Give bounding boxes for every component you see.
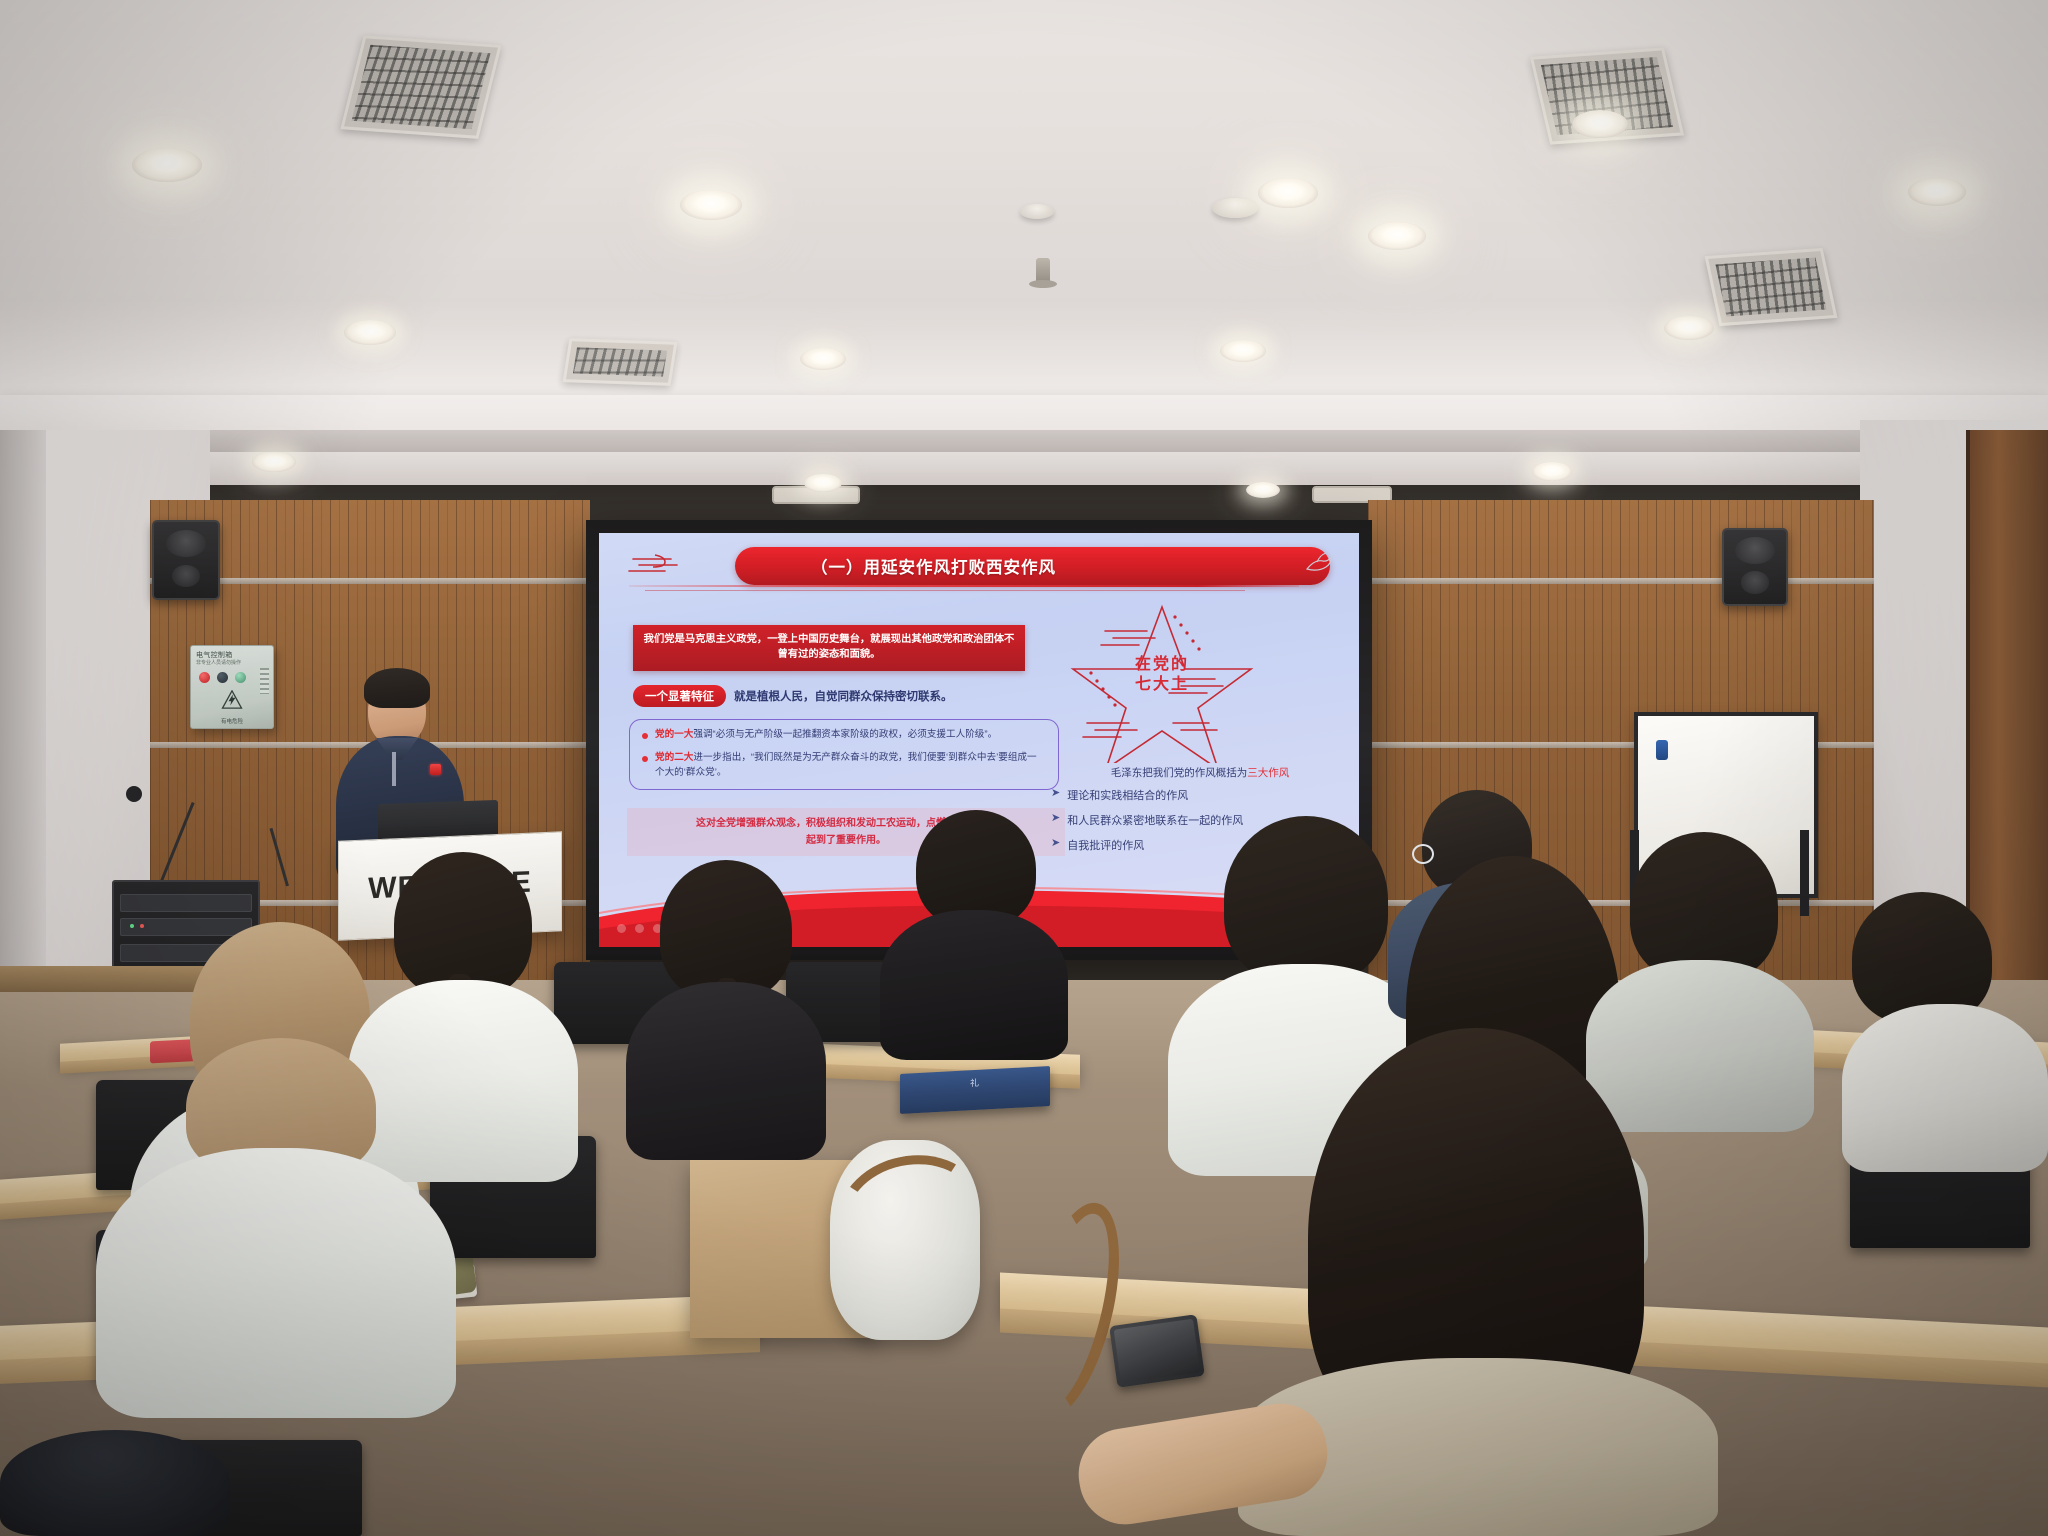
control-box-vents xyxy=(260,668,269,694)
star-label: 在党的 七大上 xyxy=(1069,655,1255,695)
smoke-detector xyxy=(1212,198,1258,218)
presenter-hair xyxy=(364,668,430,708)
wood-panel-seam xyxy=(1368,578,1874,584)
mao-line-highlight: 三大作风 xyxy=(1247,767,1289,779)
ceiling-downlight xyxy=(344,320,396,345)
ceiling-downlight xyxy=(800,348,846,370)
whiteboard-magnet[interactable] xyxy=(1656,740,1668,760)
electrical-control-box[interactable]: 电气控制箱 非专业人员请勿操作 有电危险 xyxy=(190,645,274,729)
hvac-vent-grille xyxy=(1705,248,1838,326)
slide-title-banner: （一）用延安作风打败西安作风 xyxy=(735,547,1355,587)
phone-screen[interactable] xyxy=(1114,1319,1201,1384)
ceiling-downlight xyxy=(252,452,296,472)
feature-pill: 一个显著特征 xyxy=(633,685,726,707)
slide-mao-line: 毛泽东把我们党的作风概括为三大作风 xyxy=(1045,765,1355,780)
slide-bullet-item: 党的一大强调“必须与无产阶级一起推翻资本家阶级的政权，必须支援工人阶级”。 xyxy=(642,728,1046,742)
bullet-highlight: 党的二大 xyxy=(655,752,693,763)
audience-torso xyxy=(1842,1004,2048,1172)
wall-speaker xyxy=(152,520,220,600)
ceiling-downlight xyxy=(1258,178,1318,208)
control-box-sublabel: 非专业人员请勿操作 xyxy=(196,659,241,666)
audience-torso xyxy=(880,910,1068,1060)
classroom-scene: 电气控制箱 非专业人员请勿操作 有电危险 （一）用延安作风打败西安作风 xyxy=(0,0,2048,1536)
indicator-lamp-red xyxy=(199,672,210,683)
feature-text: 就是植根人民，自觉同群众保持密切联系。 xyxy=(734,688,953,704)
slide-title-underline xyxy=(645,590,1245,591)
audience-member-foreground xyxy=(1238,1028,1718,1536)
slide-title-text: （一）用延安作风打败西安作风 xyxy=(811,554,1056,578)
slide-decoration-icon xyxy=(625,551,735,585)
hvac-vent-grille xyxy=(563,338,678,386)
slide-star-graphic: 在党的 七大上 xyxy=(1069,595,1255,763)
audience-member-foreground xyxy=(96,1038,456,1418)
slide-title-underline xyxy=(629,585,1299,587)
left-wall-corner xyxy=(0,430,46,990)
chevron-right-icon: ➤ xyxy=(1051,788,1060,799)
ceiling-downlight xyxy=(1246,482,1280,498)
star-label-line-2: 七大上 xyxy=(1069,675,1255,695)
smoke-detector xyxy=(1020,204,1054,219)
audience-member xyxy=(880,810,1068,1060)
ceiling-downlight xyxy=(680,190,742,220)
ppt-pen-icon[interactable] xyxy=(617,924,626,933)
black-cap[interactable] xyxy=(0,1430,230,1536)
microphone-head-icon xyxy=(126,786,142,802)
ceiling-downlight xyxy=(1908,178,1966,206)
ceiling-downlight xyxy=(1572,110,1628,138)
fire-sprinkler xyxy=(1036,258,1050,284)
ceiling-downlight xyxy=(1368,222,1426,250)
audience-hair xyxy=(1224,816,1388,984)
mao-line-prefix: 毛泽东把我们党的作风概括为 xyxy=(1111,767,1248,779)
ceiling-downlight xyxy=(804,474,842,492)
wall-speaker xyxy=(1722,528,1788,606)
control-box-warning: 有电危险 xyxy=(191,717,273,725)
dove-icon xyxy=(1303,551,1337,581)
ceiling-downlight xyxy=(132,148,202,182)
smartphone-on-table[interactable] xyxy=(1109,1314,1205,1388)
slide-bullet-item: 党的二大进一步指出，“我们既然是为无产群众奋斗的政党，我们便要‘到群众中去’要组… xyxy=(642,751,1046,780)
bullet-text: 强调“必须与无产阶级一起推翻资本家阶级的政权，必须支援工人阶级”。 xyxy=(693,729,997,740)
slide-feature-row: 一个显著特征 就是植根人民，自觉同群众保持密切联系。 xyxy=(633,685,1053,707)
right-bullet-text: 自我批评的作风 xyxy=(1067,837,1144,853)
bullet-dot-icon xyxy=(642,733,648,739)
slide-red-statement: 我们党是马克思主义政党，一登上中国历史舞台，就展现出其他政党和政治团体不曾有过的… xyxy=(633,625,1025,671)
indicator-lamp-dark xyxy=(217,672,228,683)
audience-torso xyxy=(96,1148,456,1418)
audience-member xyxy=(1842,892,2048,1172)
ceiling-downlight xyxy=(1532,462,1572,481)
slide-bullet-box: 党的一大强调“必须与无产阶级一起推翻资本家阶级的政权，必须支援工人阶级”。 党的… xyxy=(629,719,1059,790)
star-label-line-1: 在党的 xyxy=(1069,655,1255,675)
electric-hazard-icon xyxy=(221,690,243,709)
audience-torso xyxy=(626,982,826,1160)
right-bullet-text: 理论和实践相结合的作风 xyxy=(1067,787,1188,803)
hvac-vent-grille xyxy=(340,35,501,139)
audience-member xyxy=(626,860,826,1160)
bullet-text: 进一步指出，“我们既然是为无产群众奋斗的政党，我们便要‘到群众中去’要组成一个大… xyxy=(655,752,1037,777)
gift-box-label: 礼 xyxy=(970,1076,980,1090)
ceiling-edge-band xyxy=(0,430,2048,452)
bullet-highlight: 党的一大 xyxy=(655,729,693,740)
ceiling-downlight xyxy=(1664,316,1714,340)
ceiling-downlight xyxy=(1220,340,1266,362)
rack-unit xyxy=(120,894,252,912)
gift-box[interactable]: 礼 xyxy=(900,1066,1050,1114)
right-bullet-item: ➤ 理论和实践相结合的作风 xyxy=(1051,787,1351,803)
presenter-placket xyxy=(392,752,396,786)
party-badge-icon xyxy=(430,764,441,775)
indicator-lamp-green xyxy=(235,672,246,683)
bullet-dot-icon xyxy=(642,756,648,762)
